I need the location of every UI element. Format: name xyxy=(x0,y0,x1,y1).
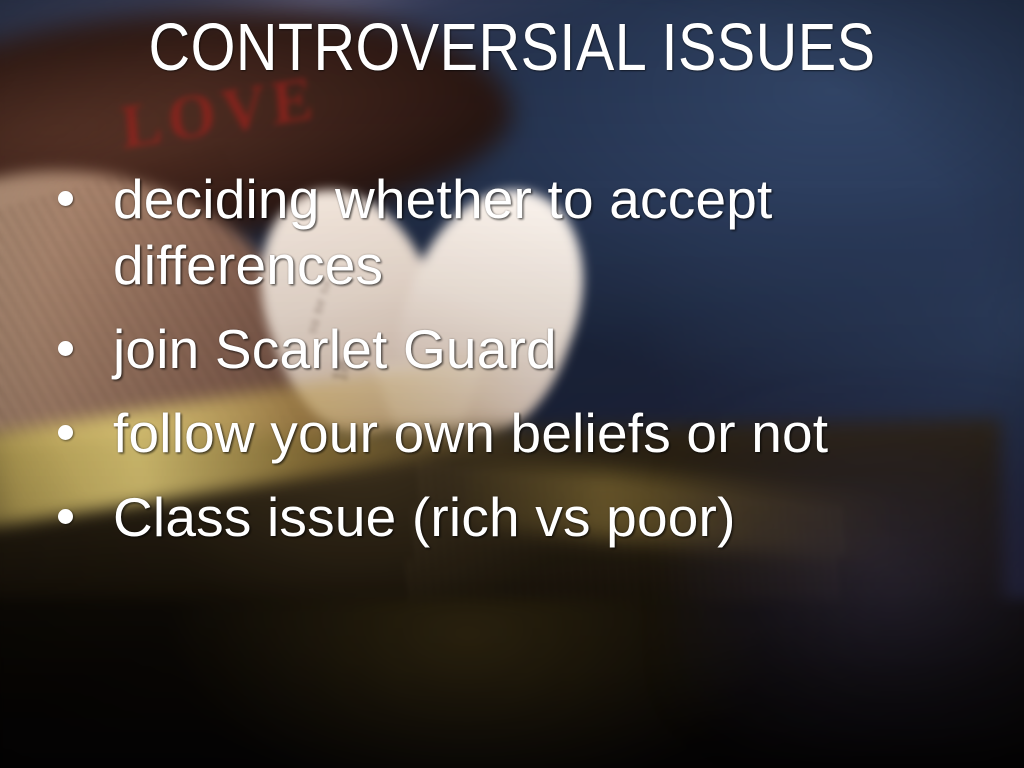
bullet-list: deciding whether to accept differences j… xyxy=(58,166,984,568)
bullet-dot-icon xyxy=(58,509,73,524)
bullet-text: Class issue (rich vs poor) xyxy=(113,484,873,550)
bullet-item: join Scarlet Guard xyxy=(58,316,984,382)
bullet-text: join Scarlet Guard xyxy=(113,316,873,382)
slide-title: CONTROVERSIAL ISSUES xyxy=(72,14,953,81)
bullet-dot-icon xyxy=(58,341,73,356)
bullet-dot-icon xyxy=(58,425,73,440)
bullet-item: follow your own beliefs or not xyxy=(58,400,984,466)
bullet-item: deciding whether to accept differences xyxy=(58,166,984,298)
slide-content: CONTROVERSIAL ISSUES deciding whether to… xyxy=(0,0,1024,768)
bullet-dot-icon xyxy=(58,191,73,206)
bullet-text: follow your own beliefs or not xyxy=(113,400,873,466)
bullet-text: deciding whether to accept differences xyxy=(113,166,873,298)
presentation-slide: LOVE su ne sa 18 CONTROVERSIAL ISSUES de… xyxy=(0,0,1024,768)
bullet-item: Class issue (rich vs poor) xyxy=(58,484,984,550)
